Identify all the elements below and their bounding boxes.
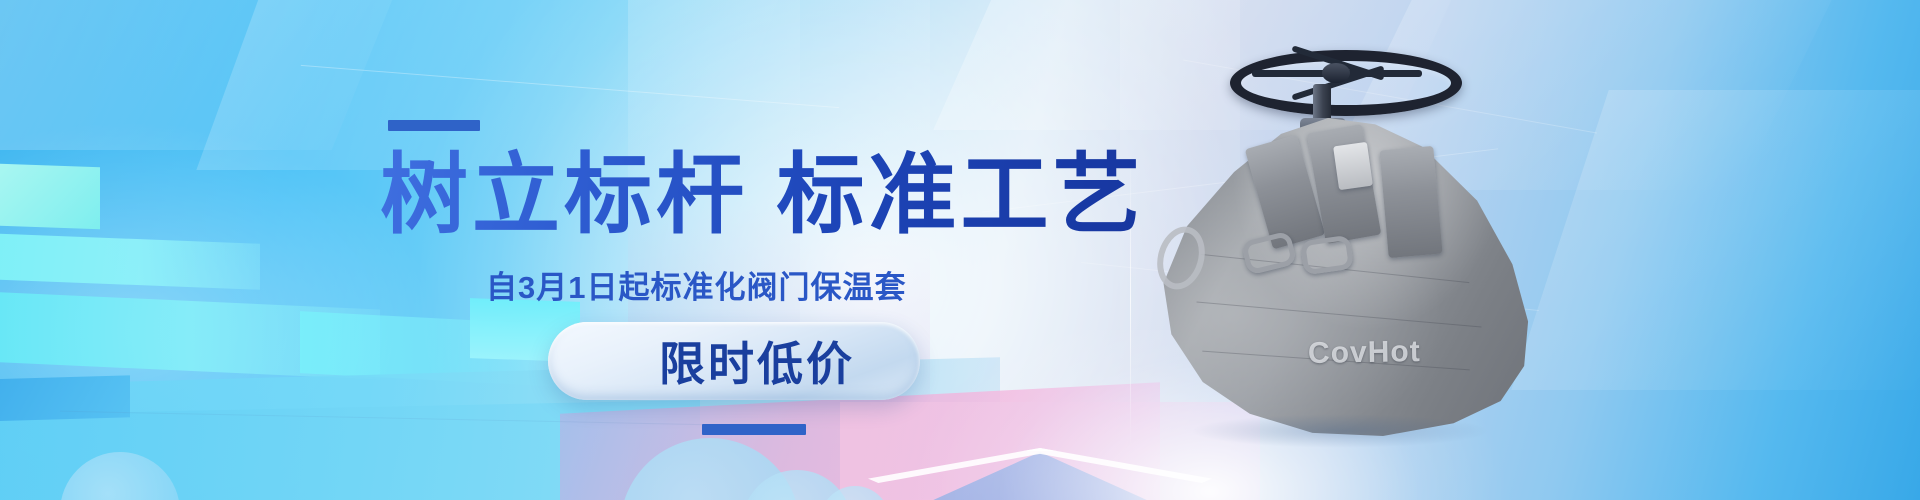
banner-subtitle: 自3月1日起标准化阀门保温套 <box>486 262 906 307</box>
limited-time-price-button[interactable]: 限时低价 <box>548 322 920 400</box>
banner-content: 树立标杆 标准工艺 自3月1日起标准化阀门保温套 限时低价 <box>0 0 1920 500</box>
valve-handwheel-icon <box>1230 50 1440 96</box>
cta-bottom-rule <box>702 424 806 435</box>
cta-button-label: 限时低价 <box>613 328 855 394</box>
banner-headline: 树立标杆 标准工艺 <box>380 148 1144 241</box>
headline-top-rule <box>388 120 480 131</box>
product-drop-shadow <box>1190 414 1490 448</box>
handwheel-hub <box>1322 63 1350 83</box>
product-logo-text: CovHot <box>1308 335 1421 371</box>
valve-insulation-jacket-image: CovHot <box>1130 22 1550 442</box>
jacket-strap-3 <box>1379 146 1442 258</box>
promotional-banner: 树立标杆 标准工艺 自3月1日起标准化阀门保温套 限时低价 <box>0 0 1920 500</box>
insulation-jacket-body: CovHot <box>1140 118 1532 436</box>
jacket-label-tag <box>1333 142 1373 190</box>
